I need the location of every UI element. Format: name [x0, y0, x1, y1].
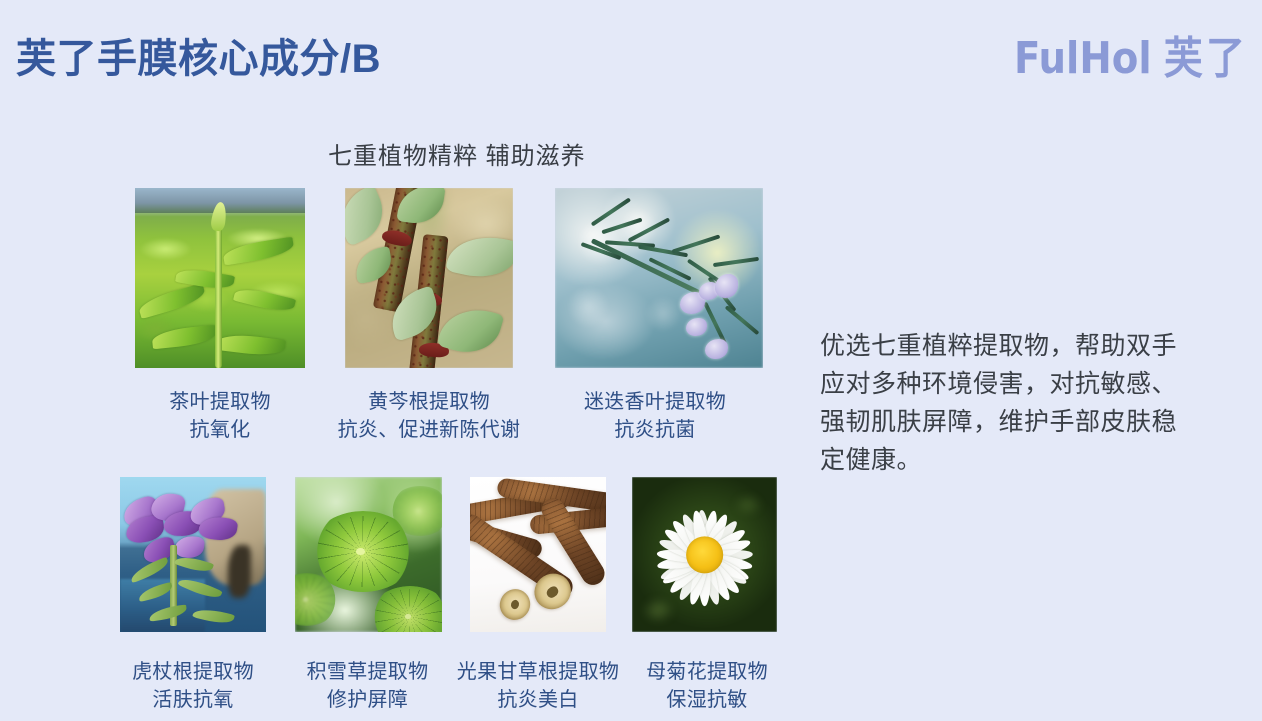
brand-logo: FulHol芙了 [1014, 22, 1248, 86]
ingredient-photo-rosemary [555, 188, 763, 368]
green-tea-field-photo [135, 188, 305, 368]
ingredient-photo-scutellaria [345, 188, 513, 368]
brand-logo-cn: 芙了 [1164, 33, 1248, 84]
ingredient-photo-licorice [470, 477, 606, 632]
ingredient-caption-chamomile: 母菊花提取物 保湿抗敏 [632, 658, 782, 714]
ingredient-name: 茶叶提取物 [135, 388, 305, 416]
ingredient-caption-licorice: 光果甘草根提取物 抗炎美白 [448, 658, 628, 714]
ingredient-effect: 抗炎抗菌 [545, 416, 765, 444]
chamomile-daisy-photo [632, 477, 777, 632]
ingredient-name: 虎杖根提取物 [108, 658, 278, 686]
scutellaria-root-stem-photo [345, 188, 513, 368]
page-title: 芙了手膜核心成分/B [16, 26, 381, 84]
ingredient-photo-green-tea [135, 188, 305, 368]
ingredient-name: 迷迭香叶提取物 [545, 388, 765, 416]
brand-logo-latin: FulHol [1014, 33, 1152, 84]
ingredient-caption-rosemary: 迷迭香叶提取物 抗炎抗菌 [545, 388, 765, 444]
ingredient-effect: 抗氧化 [135, 416, 305, 444]
ingredient-caption-green-tea: 茶叶提取物 抗氧化 [135, 388, 305, 444]
ingredient-name: 母菊花提取物 [632, 658, 782, 686]
ingredient-caption-polygonum: 虎杖根提取物 活肤抗氧 [108, 658, 278, 714]
ingredient-caption-centella: 积雪草提取物 修护屏障 [290, 658, 445, 714]
ingredient-effect: 保湿抗敏 [632, 686, 782, 714]
ingredient-caption-scutellaria: 黄芩根提取物 抗炎、促进新陈代谢 [335, 388, 523, 444]
daisy-center [686, 536, 724, 573]
ingredient-photo-polygonum [120, 477, 266, 632]
centella-leaf-photo [295, 477, 442, 632]
ingredient-name: 光果甘草根提取物 [448, 658, 628, 686]
ingredient-photo-centella [295, 477, 442, 632]
ingredient-effect: 修护屏障 [290, 686, 445, 714]
ingredient-name: 黄芩根提取物 [335, 388, 523, 416]
ingredient-effect: 抗炎、促进新陈代谢 [335, 416, 523, 444]
ingredient-name: 积雪草提取物 [290, 658, 445, 686]
rosemary-sprig-photo [555, 188, 763, 368]
slide-canvas: 芙了手膜核心成分/B FulHol芙了 七重植物精粹 辅助滋养 优选七重植粹提取… [0, 0, 1262, 721]
ingredient-effect: 活肤抗氧 [108, 686, 278, 714]
ingredient-effect: 抗炎美白 [448, 686, 628, 714]
description-paragraph: 优选七重植粹提取物，帮助双手应对多种环境侵害，对抗敏感、强韧肌肤屏障，维护手部皮… [820, 327, 1192, 479]
licorice-root-photo [470, 477, 606, 632]
polygonum-purple-flower-photo [120, 477, 266, 632]
ingredient-photo-chamomile [632, 477, 777, 632]
section-subtitle: 七重植物精粹 辅助滋养 [328, 136, 586, 171]
